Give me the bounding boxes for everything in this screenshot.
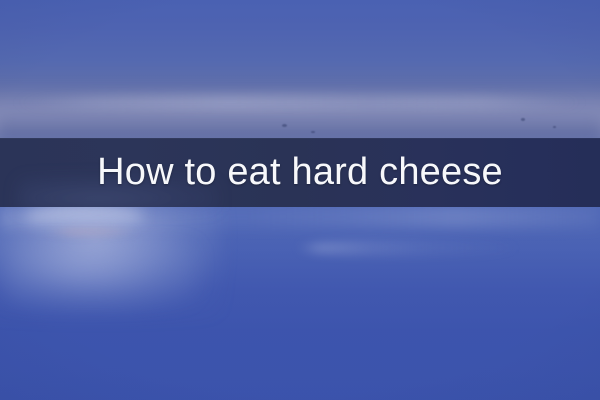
title-banner: How to eat hard cheese: [0, 138, 600, 207]
page-title: How to eat hard cheese: [97, 153, 503, 193]
title-card: How to eat hard cheese: [0, 0, 600, 400]
